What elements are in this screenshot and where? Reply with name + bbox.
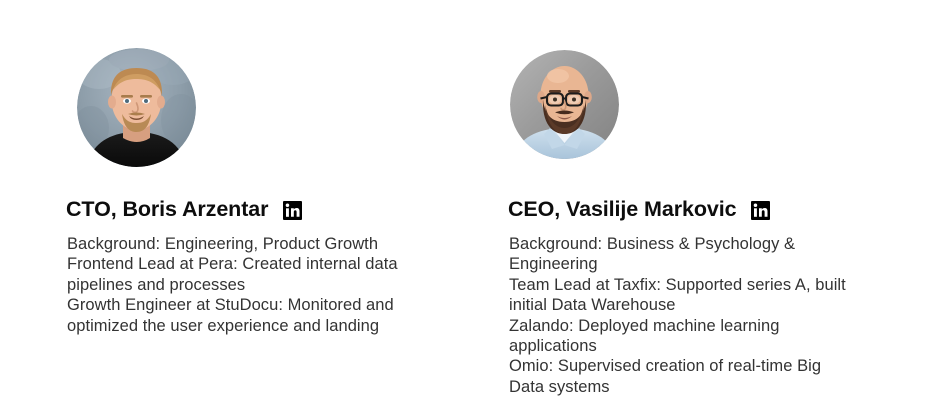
member-heading: CEO, Vasilije Markovic (508, 196, 770, 222)
avatar-vasilije-markovic (510, 50, 619, 159)
team-members-grid: CTO, Boris Arzentar Background: Engineer… (0, 0, 948, 412)
member-name: CEO, Vasilije Markovic (508, 196, 736, 222)
member-heading: CTO, Boris Arzentar (66, 196, 302, 222)
avatar-boris-arzentar (77, 48, 196, 167)
linkedin-icon[interactable] (283, 201, 302, 220)
member-name: CTO, Boris Arzentar (66, 196, 268, 222)
linkedin-icon[interactable] (751, 201, 770, 220)
member-bio: Background: Business & Psychology & Engi… (509, 234, 859, 397)
member-bio: Background: Engineering, Product Growth … (67, 234, 412, 336)
